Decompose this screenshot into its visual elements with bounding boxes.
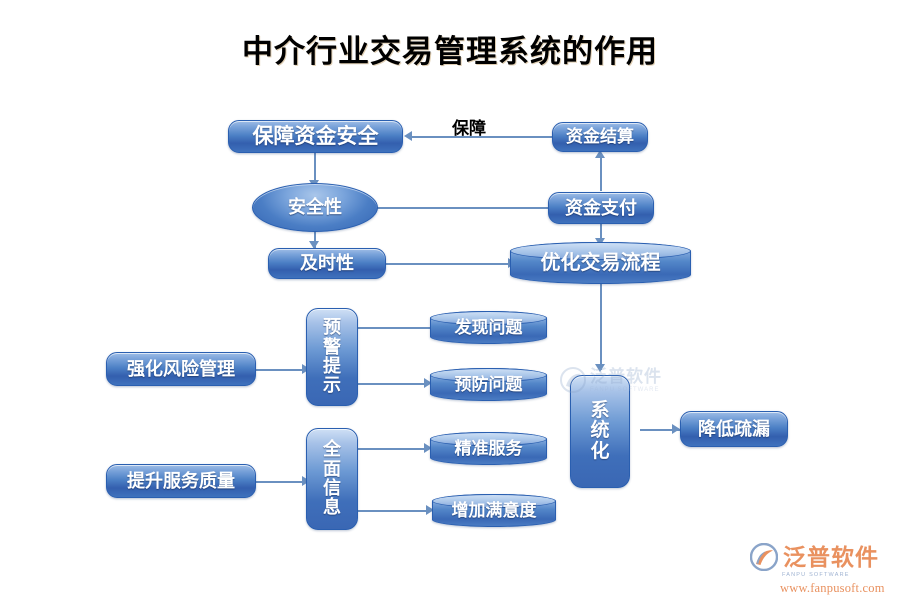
node-label: 资金结算 <box>566 127 634 146</box>
connector-baozhang-to-anquanxing <box>314 152 316 182</box>
node-zijin-zhifu[interactable]: 资金支付 <box>548 192 654 224</box>
node-label: 发现问题 <box>455 318 523 337</box>
node-label: 精准服务 <box>455 439 523 458</box>
node-label: 强化风险管理 <box>127 359 235 379</box>
node-label-char: 化 <box>590 442 609 463</box>
node-jishixing[interactable]: 及时性 <box>268 248 386 279</box>
logo-url: www.fanpusoft.com <box>780 581 890 596</box>
arrowhead-to-xitonghua <box>595 364 605 372</box>
node-qianghua-fengxian-guanli[interactable]: 强化风险管理 <box>106 352 256 386</box>
edge-label-baozhang: 保障 <box>452 114 486 139</box>
connector-yujing-to-yufang <box>358 383 428 385</box>
fanpu-logo-icon <box>750 543 778 571</box>
connector-youhua-to-xitonghua <box>600 284 602 370</box>
node-label: 优化交易流程 <box>541 252 661 274</box>
node-quanmian-xinxi[interactable]: 全 面 信 息 <box>306 428 358 530</box>
node-label: 安全性 <box>288 197 342 217</box>
node-zengjia-manyidu[interactable]: 增加满意度 <box>432 494 556 527</box>
node-label-char: 统 <box>590 421 609 442</box>
node-label: 提升服务质量 <box>127 471 235 491</box>
node-jingzhun-fuwu[interactable]: 精准服务 <box>430 432 547 465</box>
connector-quanmian-to-jingzhun <box>358 448 428 450</box>
node-faxian-wenti[interactable]: 发现问题 <box>430 311 547 344</box>
connector-tisheng-to-quanmian <box>256 481 306 483</box>
node-jiangdi-shulou[interactable]: 降低疏漏 <box>680 411 788 447</box>
node-yujing-tishi[interactable]: 预 警 提 示 <box>306 308 358 406</box>
node-zijin-jiesuan[interactable]: 资金结算 <box>552 122 648 152</box>
connector-quanmian-to-zengjia <box>358 510 430 512</box>
node-label-char: 系 <box>590 401 609 422</box>
node-label-char: 预 <box>323 318 341 337</box>
node-tisheng-fuwu-zhiliang[interactable]: 提升服务质量 <box>106 464 256 498</box>
connector-zhifu-to-jiesuan <box>600 155 602 191</box>
connector-zhifu-to-anquanxing <box>376 207 548 209</box>
node-label-char: 息 <box>323 498 341 517</box>
node-xitonghua[interactable]: 系 统 化 <box>570 375 630 488</box>
node-label: 资金支付 <box>565 198 637 218</box>
node-label: 保障资金安全 <box>253 125 379 149</box>
arrowhead-to-jiangdi <box>672 424 680 434</box>
fanpu-logo: 泛普软件 FANPU SOFTWARE www.fanpusoft.com <box>750 543 890 593</box>
logo-brand: 泛普软件 <box>783 546 879 569</box>
node-label-char: 警 <box>323 338 341 357</box>
node-label: 增加满意度 <box>452 501 537 520</box>
arrowhead-to-baozhang <box>404 131 412 141</box>
node-label-char: 全 <box>323 440 341 459</box>
connector-jishixing-to-youhua <box>386 263 510 265</box>
node-label: 预防问题 <box>455 375 523 394</box>
connector-yujing-to-faxian <box>358 327 430 329</box>
node-label-char: 提 <box>323 357 341 376</box>
node-label: 及时性 <box>300 253 354 273</box>
diagram-canvas: 中介行业交易管理系统的作用 保障 保障资金安全 <box>0 0 900 600</box>
connector-fengxian-to-yujing <box>256 369 306 371</box>
node-yufang-wenti[interactable]: 预防问题 <box>430 368 547 401</box>
node-label-char: 信 <box>323 479 341 498</box>
node-youhua-jiaoyi-liucheng[interactable]: 优化交易流程 <box>510 242 691 284</box>
node-label: 降低疏漏 <box>698 419 770 439</box>
logo-brand-sub: FANPU SOFTWARE <box>782 572 890 578</box>
node-anquanxing[interactable]: 安全性 <box>252 183 378 232</box>
node-baozhang-zijin-anquan[interactable]: 保障资金安全 <box>228 120 403 153</box>
node-label-char: 面 <box>323 460 341 479</box>
node-label-char: 示 <box>323 376 341 395</box>
page-title: 中介行业交易管理系统的作用 <box>0 26 900 71</box>
